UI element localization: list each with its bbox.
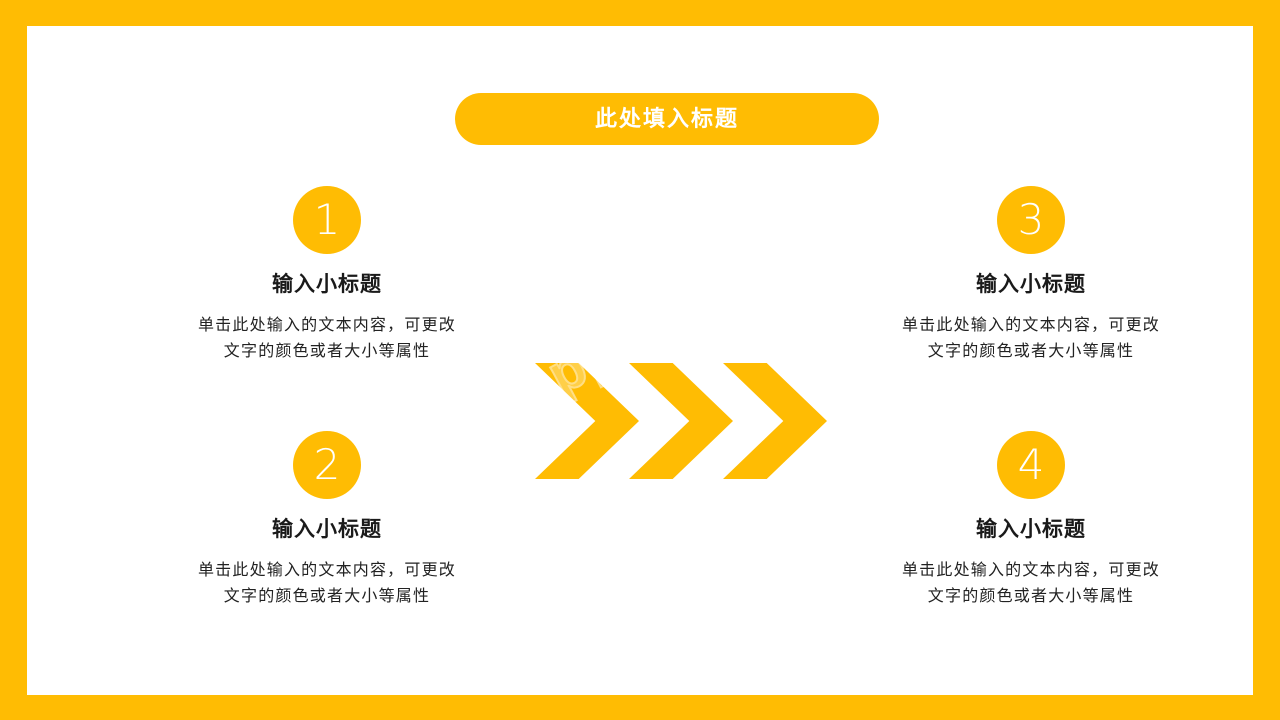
item-heading-1: 输入小标题 [272, 274, 382, 295]
item-body-line-2: 文字的颜色或者大小等属性 [147, 339, 507, 365]
item-body-line-1: 单击此处输入的文本内容，可更改 [851, 313, 1211, 339]
item-body-line-1: 单击此处输入的文本内容，可更改 [147, 558, 507, 584]
triple-chevron-right-icon [535, 363, 811, 479]
item-body-line-2: 文字的颜色或者大小等属性 [147, 584, 507, 610]
number-badge-4: 4 [997, 431, 1065, 499]
slide-root: 此处填入标题 1 输入小标题 单击此处输入的文本内容，可更改 文字的颜色或者大小… [0, 0, 1280, 720]
chevron-right-icon-2 [629, 363, 733, 479]
item-heading-2: 输入小标题 [272, 519, 382, 540]
number-badge-1: 1 [293, 186, 361, 254]
item-body-1: 单击此处输入的文本内容，可更改 文字的颜色或者大小等属性 [147, 313, 507, 366]
content-item-2[interactable]: 2 输入小标题 单击此处输入的文本内容，可更改 文字的颜色或者大小等属性 [127, 431, 527, 611]
item-body-3: 单击此处输入的文本内容，可更改 文字的颜色或者大小等属性 [851, 313, 1211, 366]
badge-number-label: 4 [1018, 444, 1045, 486]
item-heading-3: 输入小标题 [976, 274, 1086, 295]
content-item-1[interactable]: 1 输入小标题 单击此处输入的文本内容，可更改 文字的颜色或者大小等属性 [127, 186, 527, 366]
item-body-2: 单击此处输入的文本内容，可更改 文字的颜色或者大小等属性 [147, 558, 507, 611]
chevron-right-icon-1 [535, 363, 639, 479]
content-item-3[interactable]: 3 输入小标题 单击此处输入的文本内容，可更改 文字的颜色或者大小等属性 [831, 186, 1231, 366]
item-body-line-1: 单击此处输入的文本内容，可更改 [851, 558, 1211, 584]
item-body-4: 单击此处输入的文本内容，可更改 文字的颜色或者大小等属性 [851, 558, 1211, 611]
item-body-line-1: 单击此处输入的文本内容，可更改 [147, 313, 507, 339]
badge-number-label: 3 [1018, 199, 1045, 241]
item-heading-4: 输入小标题 [976, 519, 1086, 540]
chevron-right-icon-3 [723, 363, 827, 479]
item-body-line-2: 文字的颜色或者大小等属性 [851, 339, 1211, 365]
slide-canvas: 此处填入标题 1 输入小标题 单击此处输入的文本内容，可更改 文字的颜色或者大小… [27, 26, 1253, 695]
number-badge-3: 3 [997, 186, 1065, 254]
content-item-4[interactable]: 4 输入小标题 单击此处输入的文本内容，可更改 文字的颜色或者大小等属性 [831, 431, 1231, 611]
page-title: 此处填入标题 [595, 108, 739, 130]
slide-title-pill[interactable]: 此处填入标题 [455, 93, 879, 145]
number-badge-2: 2 [293, 431, 361, 499]
badge-number-label: 1 [314, 199, 341, 241]
item-body-line-2: 文字的颜色或者大小等属性 [851, 584, 1211, 610]
badge-number-label: 2 [314, 444, 341, 486]
